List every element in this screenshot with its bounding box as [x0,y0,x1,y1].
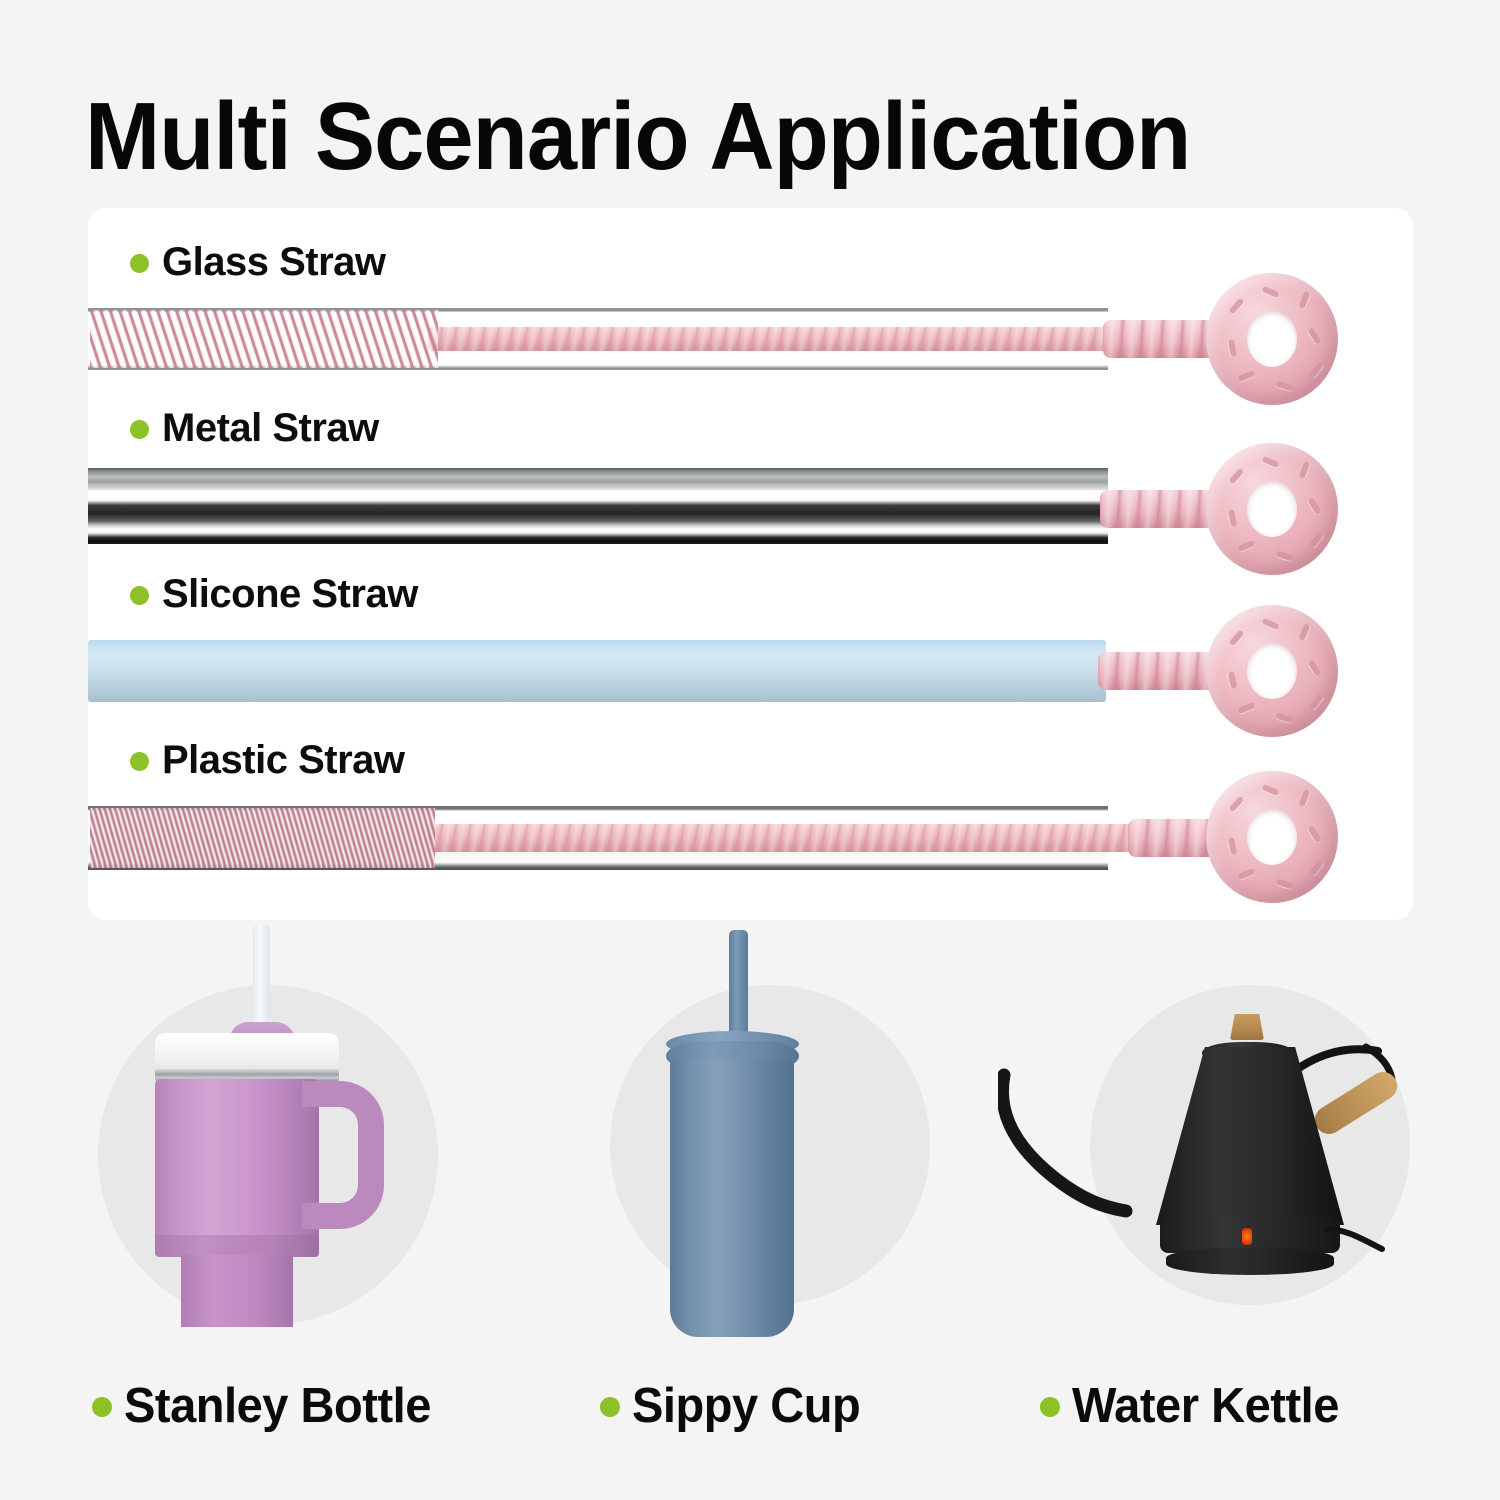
bottle-handle [302,1081,384,1229]
green-dot-icon [600,1397,620,1417]
cup-straw [729,930,748,1045]
scenario-photo-sippy-cup [610,985,930,1305]
donut-sprinkles [1206,605,1338,737]
straw-label-plastic: Plastic Straw [130,738,405,783]
donut-handle [1206,273,1338,405]
straw-row-glass: Glass Straw [88,232,1413,400]
page-title: Multi Scenario Application [85,82,1190,192]
donut-handle [1206,605,1338,737]
bottle-base [181,1255,293,1327]
sippy-cup-illustration [610,985,930,1305]
green-dot-icon [130,420,149,439]
straw-label-text: Metal Straw [162,406,379,451]
donut-handle [1206,771,1338,903]
donut-handle [1206,443,1338,575]
scenario-label-text: Water Kettle [1072,1378,1339,1434]
straw-label-text: Plastic Straw [162,738,405,783]
kettle-cork-knob [1230,1014,1264,1040]
green-dot-icon [92,1397,112,1417]
straw-row-silicone: Slicone Straw [88,564,1413,732]
kettle-power-led [1242,1228,1252,1245]
kettle-power-cord-icon [1324,1223,1394,1263]
green-dot-icon [130,752,149,771]
donut-sprinkles [1206,273,1338,405]
straw-label-text: Glass Straw [162,240,386,285]
brush-neck [1098,652,1218,690]
brush-stem [428,327,1133,351]
bottle-lid [155,1033,339,1071]
green-dot-icon [1040,1397,1060,1417]
metal-straw-top-edge [88,468,1108,490]
silicone-straw-tube [88,640,1106,702]
brush-neck [1103,320,1218,358]
scenario-label-water-kettle: Water Kettle [1040,1378,1350,1434]
brush-stem [428,824,1143,852]
bottle-taper [155,1235,319,1257]
bottle-straw [253,925,270,1035]
donut-sprinkles [1206,443,1338,575]
brush-bristles [90,310,438,368]
scenario-label-sippy-cup: Sippy Cup [600,1378,870,1434]
green-dot-icon [130,586,149,605]
straw-row-metal: Metal Straw [88,398,1413,566]
scenario-label-text: Stanley Bottle [124,1378,431,1434]
straw-label-text: Slicone Straw [162,572,418,617]
straw-label-silicone: Slicone Straw [130,572,418,617]
brush-bristles [90,808,435,868]
water-kettle-illustration [1090,985,1410,1305]
infographic-page: Multi Scenario Application Glass Straw [0,0,1500,1500]
scenario-photo-water-kettle [1090,985,1410,1305]
straw-comparison-card: Glass Straw [88,208,1413,920]
stanley-bottle-illustration [98,985,438,1325]
straw-label-metal: Metal Straw [130,406,379,451]
scenario-photo-stanley-bottle [98,985,438,1325]
bottle-body [155,1079,319,1240]
scenario-label-text: Sippy Cup [632,1378,860,1434]
donut-sprinkles [1206,771,1338,903]
kettle-power-plate [1166,1247,1334,1275]
green-dot-icon [130,254,149,273]
brush-neck [1100,490,1218,528]
metal-straw-body [88,498,1108,544]
straw-label-glass: Glass Straw [130,240,386,285]
straw-row-plastic: Plastic Straw [88,730,1413,898]
cup-body [670,1059,794,1337]
scenario-label-stanley-bottle: Stanley Bottle [92,1378,444,1434]
